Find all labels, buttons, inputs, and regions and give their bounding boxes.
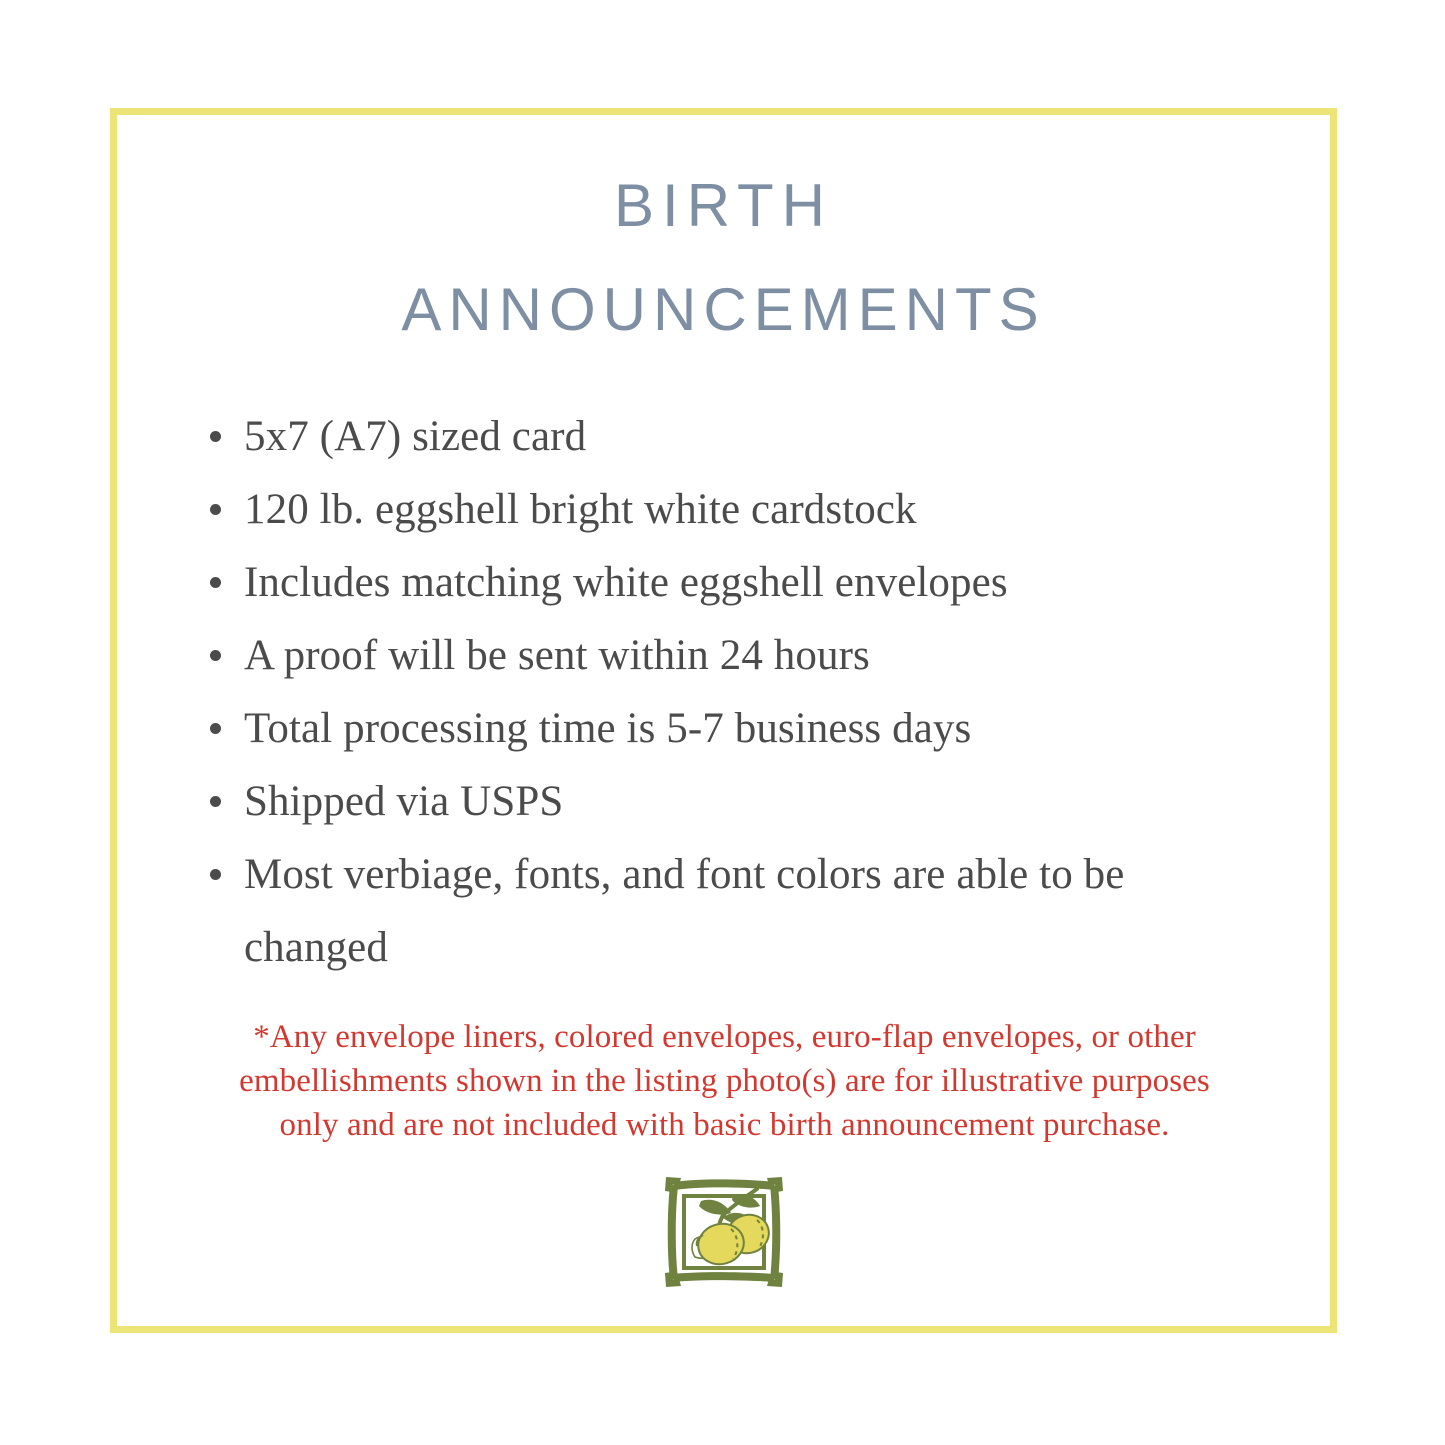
disclaimer-note: *Any envelope liners, colored envelopes,… <box>177 1015 1272 1147</box>
card-content: Birth Announcements 5x7 (A7) sized card … <box>117 115 1330 1326</box>
list-item-label: 120 lb. eggshell bright white cardstock <box>244 473 1262 546</box>
feature-list: 5x7 (A7) sized card 120 lb. eggshell bri… <box>202 400 1262 984</box>
list-item: 120 lb. eggshell bright white cardstock <box>202 473 1262 546</box>
list-item: Includes matching white eggshell envelop… <box>202 546 1262 619</box>
disclaimer-line-2: embellishments shown in the listing phot… <box>177 1059 1272 1103</box>
bullet-dot-icon <box>210 796 221 807</box>
bullet-dot-icon <box>210 869 221 880</box>
lemon-branch-icon <box>661 1173 787 1291</box>
disclaimer-line-3: only and are not included with basic bir… <box>177 1103 1272 1147</box>
list-item-label: Shipped via USPS <box>244 765 1262 838</box>
page-title: Birth Announcements <box>117 145 1330 353</box>
list-item: Total processing time is 5-7 business da… <box>202 692 1262 765</box>
disclaimer-line-1: *Any envelope liners, colored envelopes,… <box>177 1015 1272 1059</box>
list-item-label: Total processing time is 5-7 business da… <box>244 692 1262 765</box>
page-title-line-1: Birth <box>117 145 1330 249</box>
bullet-dot-icon <box>210 650 221 661</box>
list-item: Most verbiage, fonts, and font colors ar… <box>202 838 1262 984</box>
list-item: 5x7 (A7) sized card <box>202 400 1262 473</box>
list-item: Shipped via USPS <box>202 765 1262 838</box>
page-canvas: Birth Announcements 5x7 (A7) sized card … <box>0 0 1445 1445</box>
bullet-dot-icon <box>210 504 221 515</box>
bullet-dot-icon <box>210 431 221 442</box>
page-title-line-2: Announcements <box>117 249 1330 353</box>
yellow-border-frame: Birth Announcements 5x7 (A7) sized card … <box>110 108 1337 1333</box>
bullet-dot-icon <box>210 723 221 734</box>
list-item-label: 5x7 (A7) sized card <box>244 400 1262 473</box>
list-item-label: Includes matching white eggshell envelop… <box>244 546 1262 619</box>
brand-logo <box>117 1173 1330 1291</box>
list-item-label: Most verbiage, fonts, and font colors ar… <box>244 838 1262 984</box>
bullet-dot-icon <box>210 577 221 588</box>
list-item: A proof will be sent within 24 hours <box>202 619 1262 692</box>
list-item-label: A proof will be sent within 24 hours <box>244 619 1262 692</box>
